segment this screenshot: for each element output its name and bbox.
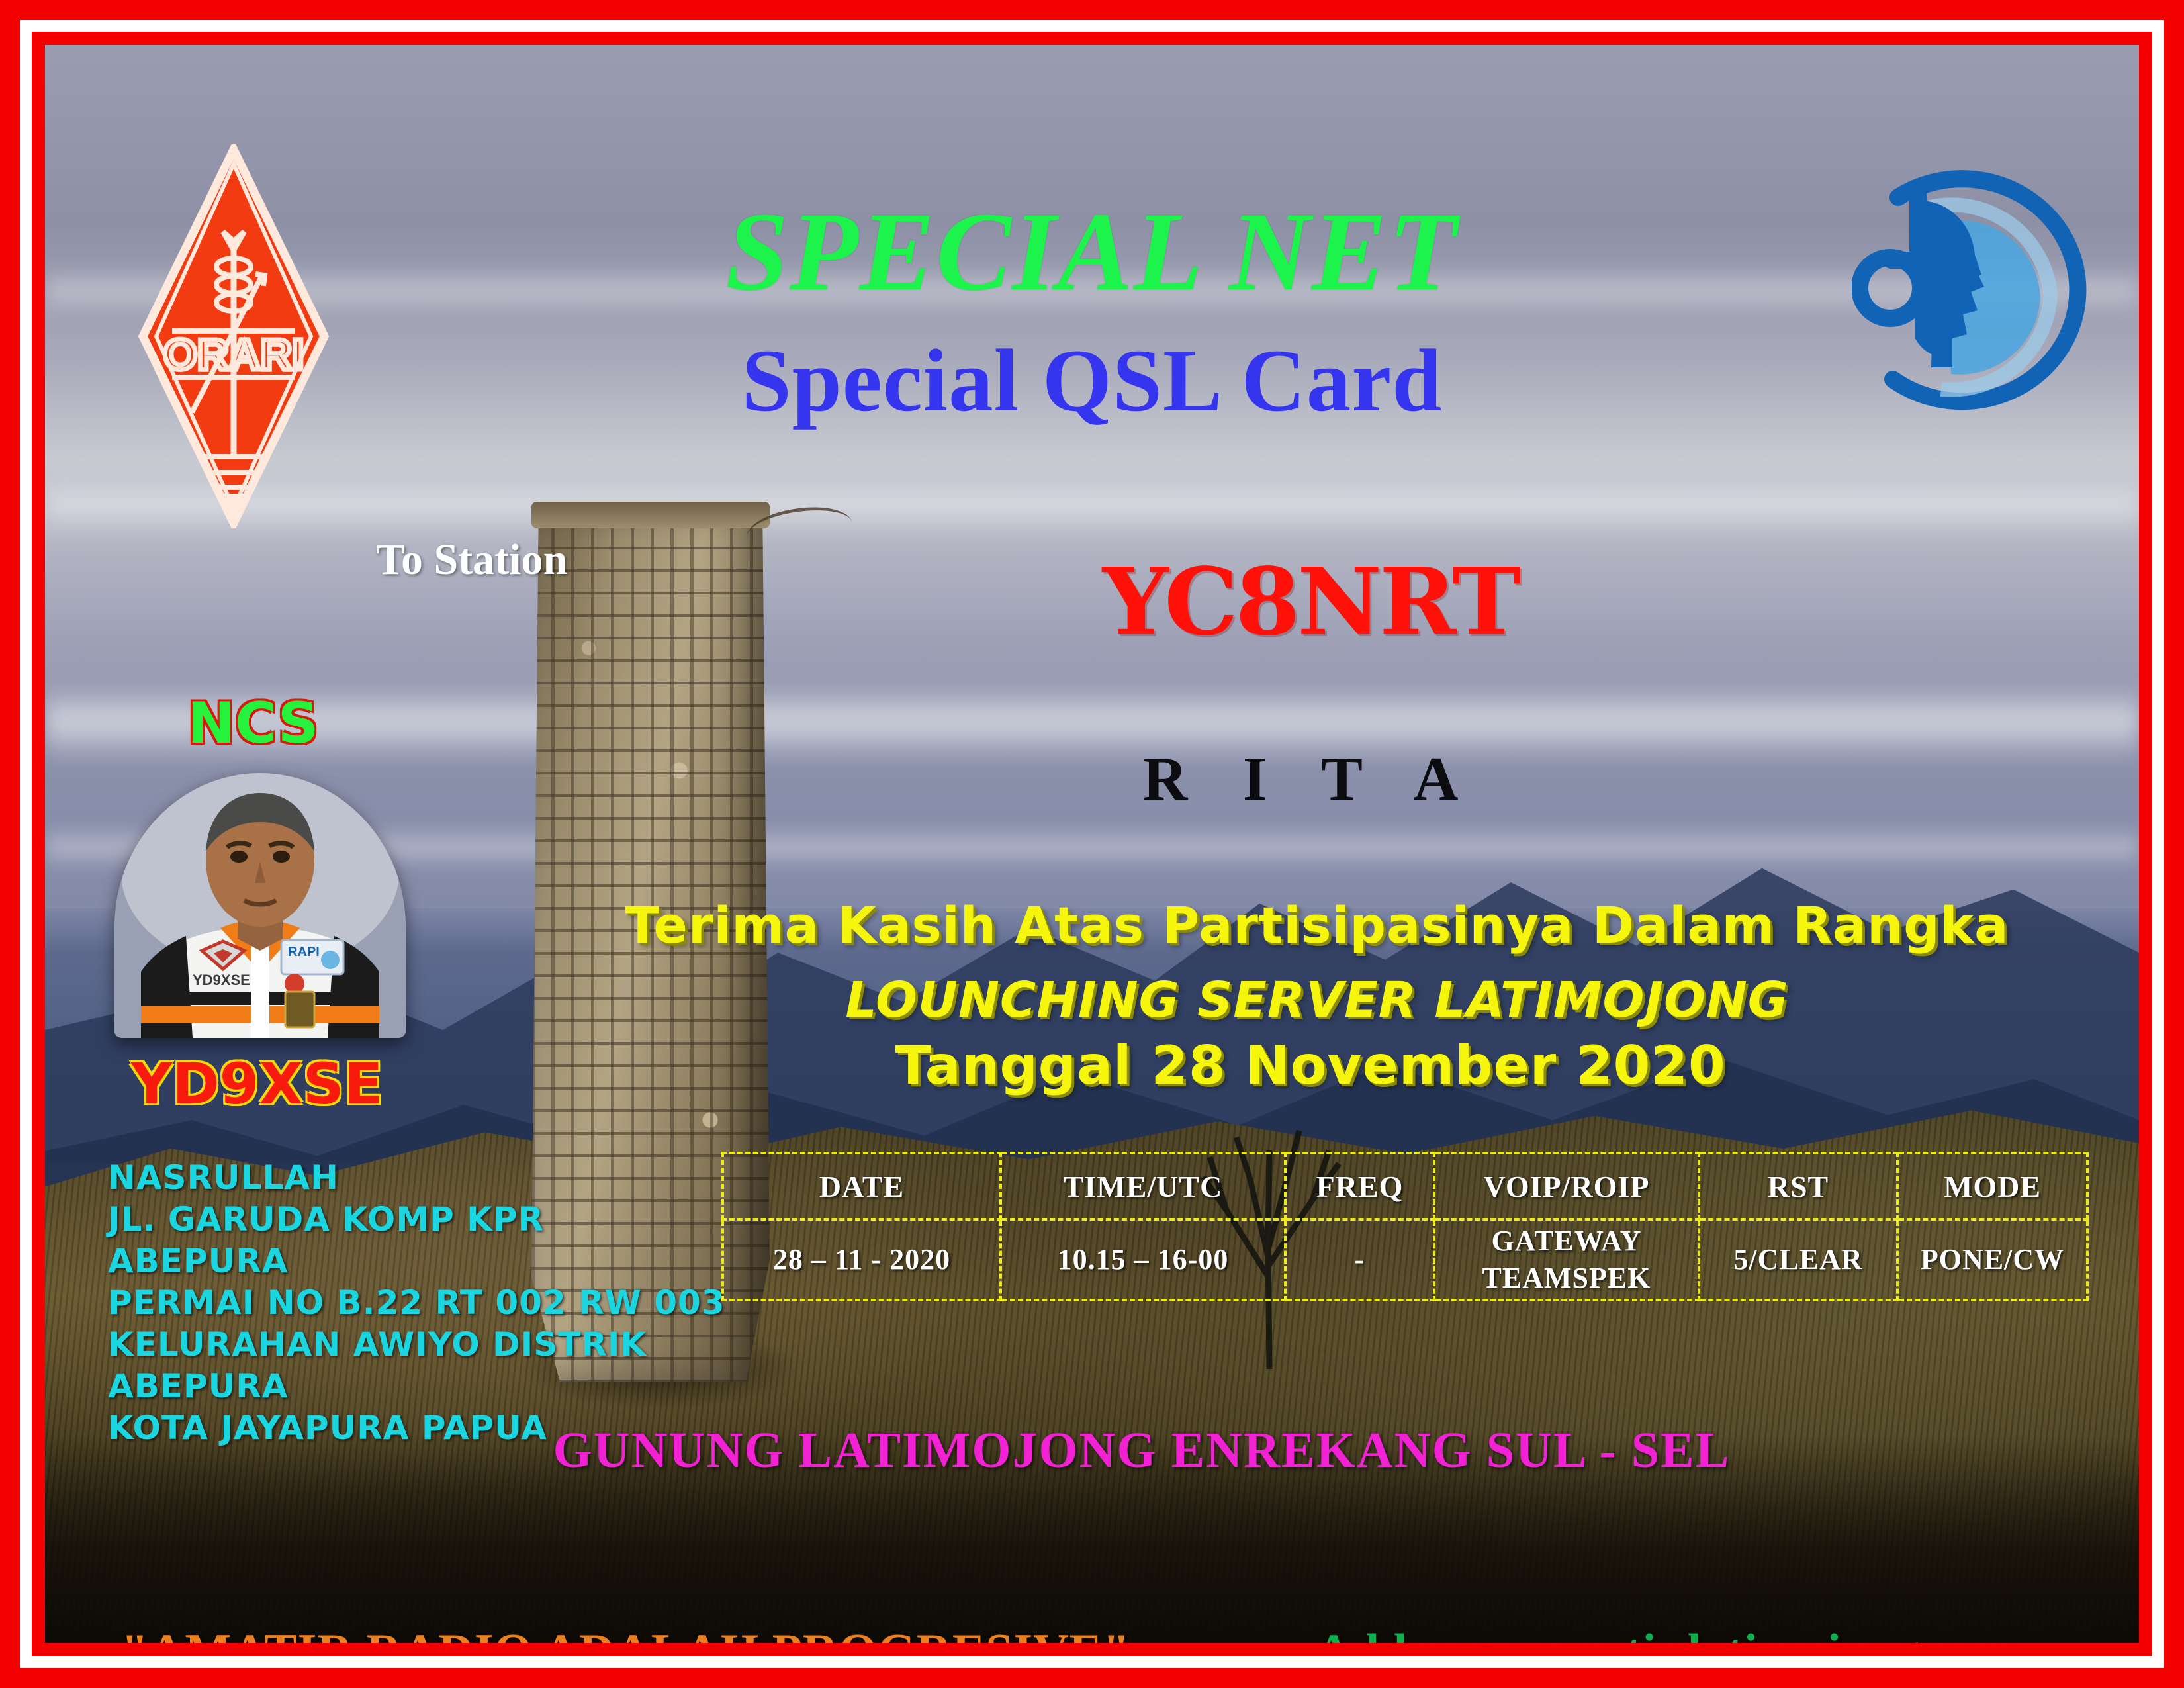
operator-name: R I T A [263,743,2139,815]
station-address: NASRULLAH JL. GARUDA KOMP KPR ABEPURA PE… [108,1157,725,1449]
svg-text:YD9XSE: YD9XSE [193,972,250,988]
address-line: PERMAI NO B.22 RT 002 RW 003 [108,1282,725,1324]
thanks-line-3: Tanggal 28 November 2020 [263,1035,2139,1096]
cloud-band [45,477,2139,536]
qsl-card-white-gap: ORARI [20,20,2164,1668]
svg-text:RAPI: RAPI [288,945,320,959]
address-line: ABEPURA [108,1241,725,1282]
address-line: NASRULLAH [108,1157,725,1199]
pillar-cap [531,502,770,528]
cell-date: 28 – 11 - 2020 [723,1219,1001,1300]
cell-mode: PONE/CW [1897,1219,2087,1300]
ncs-label: NCS [187,690,319,757]
table-header-row: DATE TIME/UTC FREQ VOIP/ROIP RST MODE [723,1153,2087,1219]
station-callsign: YC8NRT [263,548,2139,657]
cell-rst: 5/CLEAR [1699,1219,1897,1300]
column-header-date: DATE [723,1153,1001,1219]
address-line: KELURAHAN AWIYO DISTRIK [108,1324,725,1366]
column-header-time: TIME/UTC [1001,1153,1285,1219]
web-address: Address : amatir.latimojong.com [1316,1624,2022,1643]
cell-freq: - [1285,1219,1434,1300]
table-row: 28 – 11 - 2020 10.15 – 16-00 - GATEWAY T… [723,1219,2087,1300]
qsl-card-outer-frame: ORARI [0,0,2184,1688]
column-header-freq: FREQ [1285,1153,1434,1219]
cell-voip: GATEWAY TEAMSPEK [1434,1219,1699,1300]
address-line: ABEPURA [108,1366,725,1407]
motto-text: "AMATIR RADIO ADALAH PROGRESIVE" [121,1624,1130,1643]
address-line: JL. GARUDA KOMP KPR [108,1199,725,1241]
page-title: SPECIAL NET [45,187,2139,316]
thanks-line-1: Terima Kasih Atas Partisipasinya Dalam R… [270,896,2139,955]
qsl-card-background-photo: ORARI [45,45,2139,1643]
column-header-voip: VOIP/ROIP [1434,1153,1699,1219]
cell-time: 10.15 – 16-00 [1001,1219,1285,1300]
place-caption: GUNUNG LATIMOJONG ENREKANG SUL - SEL [95,1422,2139,1479]
qso-log-table: DATE TIME/UTC FREQ VOIP/ROIP RST MODE 28… [721,1152,2089,1301]
ncs-callsign: YD9XSE [131,1051,383,1117]
column-header-mode: MODE [1897,1153,2087,1219]
column-header-rst: RST [1699,1153,1897,1219]
page-subtitle: Special QSL Card [45,330,2139,432]
qsl-card-inner-frame: ORARI [32,32,2152,1656]
thanks-line-2: LOUNCHING SERVER LATIMOJONG [270,972,2139,1029]
